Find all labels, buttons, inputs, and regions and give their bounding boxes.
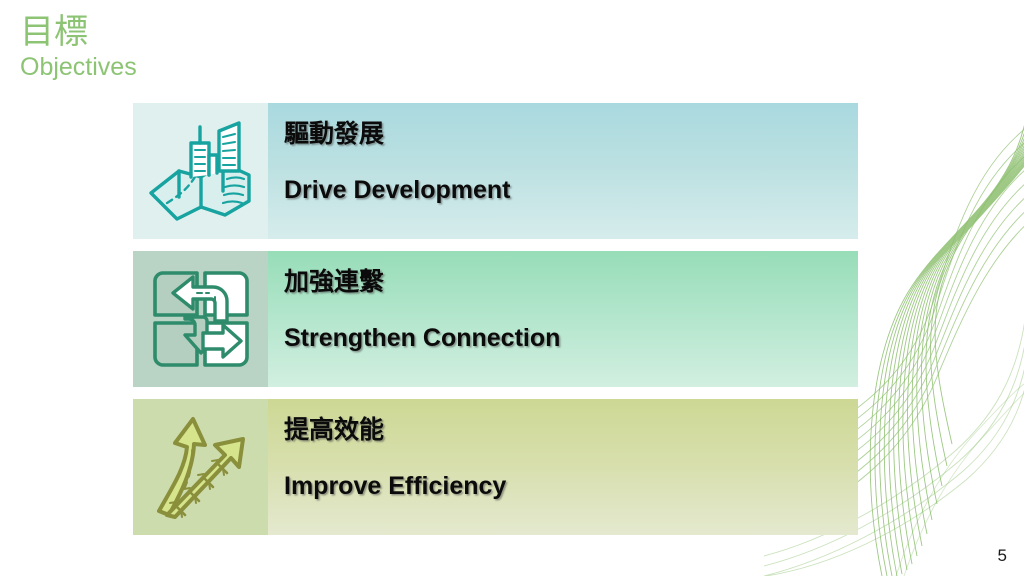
ascending-road-rail-arrows-icon: [145, 411, 257, 523]
objective-label-zh: 驅動發展: [284, 117, 858, 151]
city-map-icon: [145, 115, 257, 227]
objective-label-en: Improve Efficiency: [284, 471, 858, 501]
objective-row-improve-efficiency: 提高效能 Improve Efficiency: [133, 399, 858, 535]
text-box-drive-development: 驅動發展 Drive Development: [268, 103, 858, 239]
slide-objectives: 目標 Objectives: [0, 0, 1024, 576]
page-number: 5: [998, 546, 1007, 566]
icon-box-improve-efficiency: [133, 399, 268, 535]
page-title-zh: 目標: [20, 12, 137, 52]
objective-row-strengthen-connection: 加強連繫 Strengthen Connection: [133, 251, 858, 387]
page-title: 目標 Objectives: [20, 12, 137, 82]
text-box-strengthen-connection: 加強連繫 Strengthen Connection: [268, 251, 858, 387]
text-box-improve-efficiency: 提高效能 Improve Efficiency: [268, 399, 858, 535]
icon-box-drive-development: [133, 103, 268, 239]
icon-box-strengthen-connection: [133, 251, 268, 387]
objectives-list: 驅動發展 Drive Development: [133, 103, 858, 535]
connection-arrows-icon: [145, 263, 257, 375]
objective-label-en: Strengthen Connection: [284, 323, 858, 353]
objective-label-en: Drive Development: [284, 175, 858, 205]
objective-label-zh: 加強連繫: [284, 265, 858, 299]
objective-row-drive-development: 驅動發展 Drive Development: [133, 103, 858, 239]
objective-label-zh: 提高效能: [284, 413, 858, 447]
page-title-en: Objectives: [20, 52, 137, 82]
